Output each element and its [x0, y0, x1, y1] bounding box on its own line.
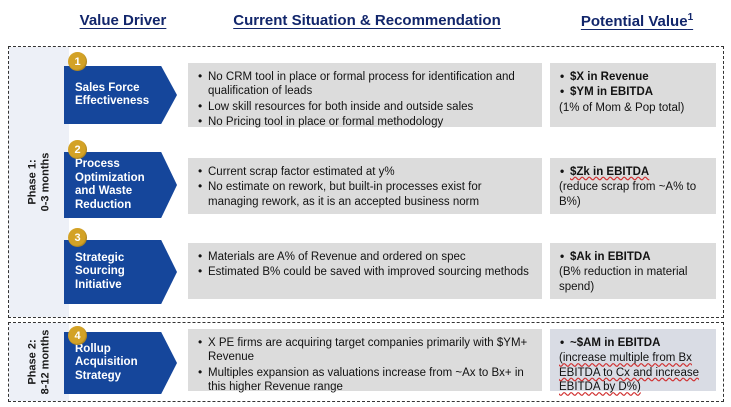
row-badge-3: 3 — [68, 228, 87, 247]
phase-1-label-line1: Phase 1: — [26, 159, 38, 204]
phase-2-label-line1: Phase 2: — [26, 339, 38, 384]
driver-chevron-1[interactable]: Sales Force Effectiveness — [64, 66, 177, 124]
header-current-situation: Current Situation & Recommendation — [192, 12, 542, 29]
situation-bullet: Estimated B% could be saved with improve… — [197, 265, 533, 279]
situation-bullet: Current scrap factor estimated at y% — [197, 165, 533, 179]
value-note: (1% of Mom & Pop total) — [559, 101, 707, 115]
situation-bullet: Materials are A% of Revenue and ordered … — [197, 250, 533, 264]
driver-label-line: Process — [75, 158, 120, 170]
situation-panel-2: Current scrap factor estimated at y% No … — [188, 158, 542, 214]
situation-bullet: X PE firms are acquiring target companie… — [197, 336, 533, 365]
value-bullet: $Ak in EBITDA — [559, 250, 707, 264]
footnote-marker: 1 — [688, 12, 694, 23]
value-panel-1: $X in Revenue $YM in EBITDA (1% of Mom &… — [550, 63, 716, 127]
situation-bullet: Multiples expansion as valuations increa… — [197, 366, 533, 395]
value-note: (reduce scrap from ~A% to B%) — [559, 180, 707, 209]
situation-panel-1: No CRM tool in place or formal process f… — [188, 63, 542, 127]
value-bullet: $X in Revenue — [559, 70, 707, 84]
driver-label-line: Acquisition — [75, 356, 138, 368]
driver-label-line: Optimization — [75, 172, 145, 184]
driver-label-line: Sales Force — [75, 82, 140, 94]
phase-1-label-line2: 0-3 months — [39, 153, 51, 212]
driver-label-line: Sourcing — [75, 265, 125, 277]
row-badge-4: 4 — [68, 326, 87, 345]
situation-panel-3: Materials are A% of Revenue and ordered … — [188, 243, 542, 299]
value-bullet: $Zk in EBITDA — [559, 165, 707, 179]
value-note: (B% reduction in material spend) — [559, 265, 707, 294]
header-value-driver: Value Driver — [38, 12, 208, 29]
row-badge-1: 1 — [68, 52, 87, 71]
value-panel-2: $Zk in EBITDA (reduce scrap from ~A% to … — [550, 158, 716, 214]
header-potential-value: Potential Value1 — [548, 12, 726, 30]
driver-chevron-3[interactable]: Strategic Sourcing Initiative — [64, 240, 177, 304]
value-panel-4: ~$AM in EBITDA (increase multiple from B… — [550, 329, 716, 391]
driver-label-line: Reduction — [75, 199, 131, 211]
value-note: (increase multiple from Bx EBITDA to Cx … — [559, 351, 707, 394]
situation-bullet: No Pricing tool in place or formal metho… — [197, 115, 533, 129]
situation-panel-4: X PE firms are acquiring target companie… — [188, 329, 542, 391]
driver-label-line: Strategic — [75, 252, 124, 264]
driver-label-line: Initiative — [75, 279, 122, 291]
driver-label-line: Strategy — [75, 370, 121, 382]
phase-2-label-line2: 8-12 months — [39, 330, 51, 395]
driver-label-line: and Waste — [75, 185, 132, 197]
situation-bullet: No CRM tool in place or formal process f… — [197, 70, 533, 99]
value-panel-3: $Ak in EBITDA (B% reduction in material … — [550, 243, 716, 299]
phase-1-label: Phase 1: 0-3 months — [9, 47, 69, 317]
header-potential-value-text: Potential Value — [581, 13, 688, 30]
column-headers: Value Driver Current Situation & Recomme… — [0, 0, 731, 44]
situation-bullet: No estimate on rework, but built-in proc… — [197, 180, 533, 209]
row-badge-2: 2 — [68, 140, 87, 159]
value-bullet: ~$AM in EBITDA — [559, 336, 707, 350]
value-bullet: $YM in EBITDA — [559, 85, 707, 99]
driver-chevron-2[interactable]: Process Optimization and Waste Reduction — [64, 152, 177, 218]
situation-bullet: Low skill resources for both inside and … — [197, 100, 533, 114]
phase-2-label: Phase 2: 8-12 months — [9, 323, 69, 401]
driver-label-line: Effectiveness — [75, 95, 149, 107]
